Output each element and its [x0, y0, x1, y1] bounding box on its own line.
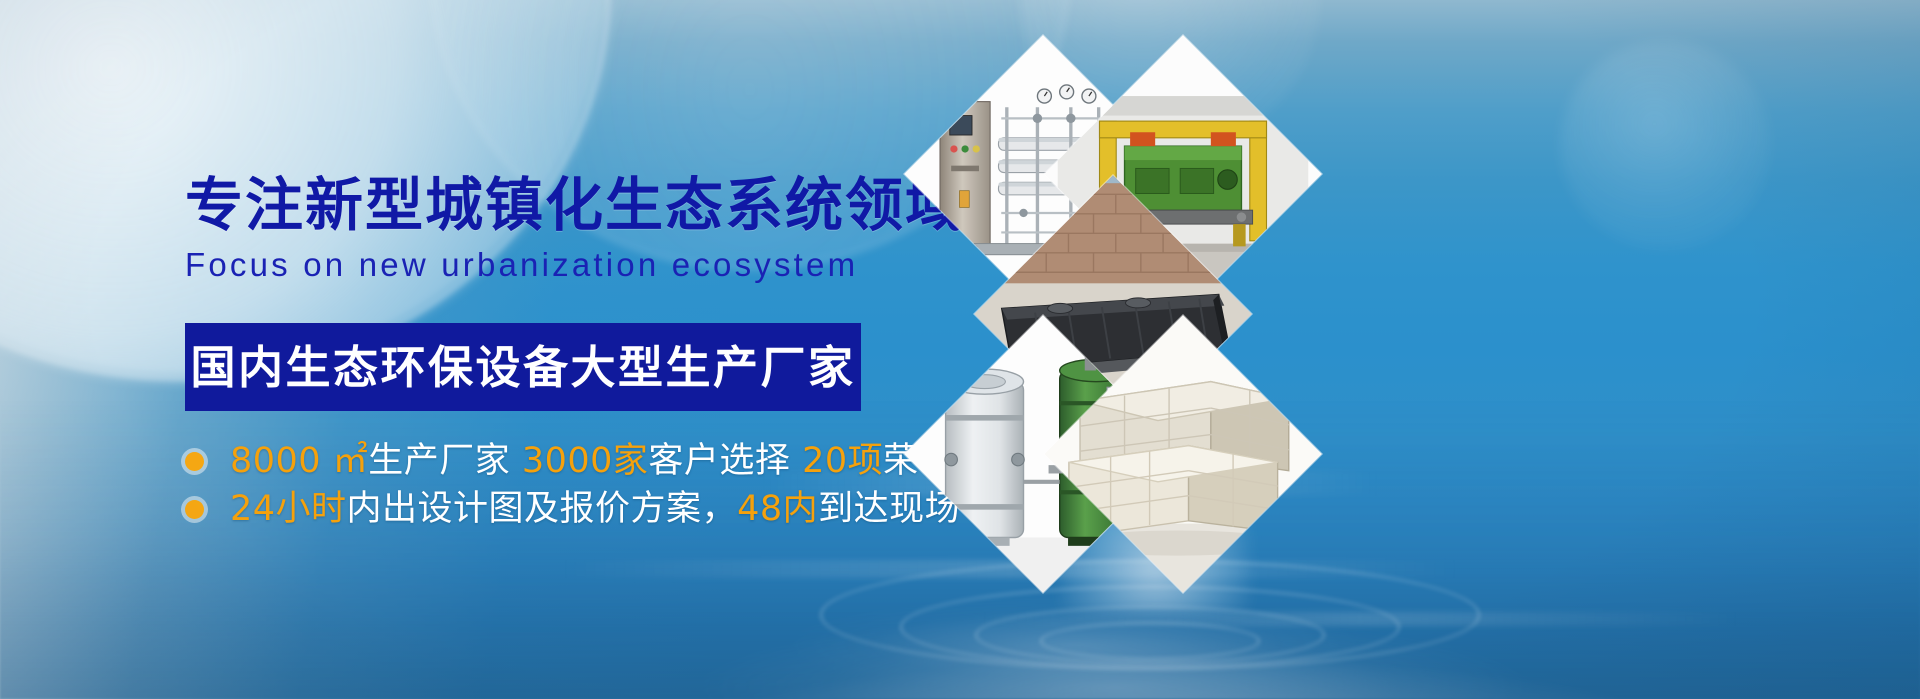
hero-banner: 专注新型城镇化生态系统领域 Focus on new urbanization …: [0, 0, 1920, 699]
background-vignette: [0, 0, 1920, 699]
